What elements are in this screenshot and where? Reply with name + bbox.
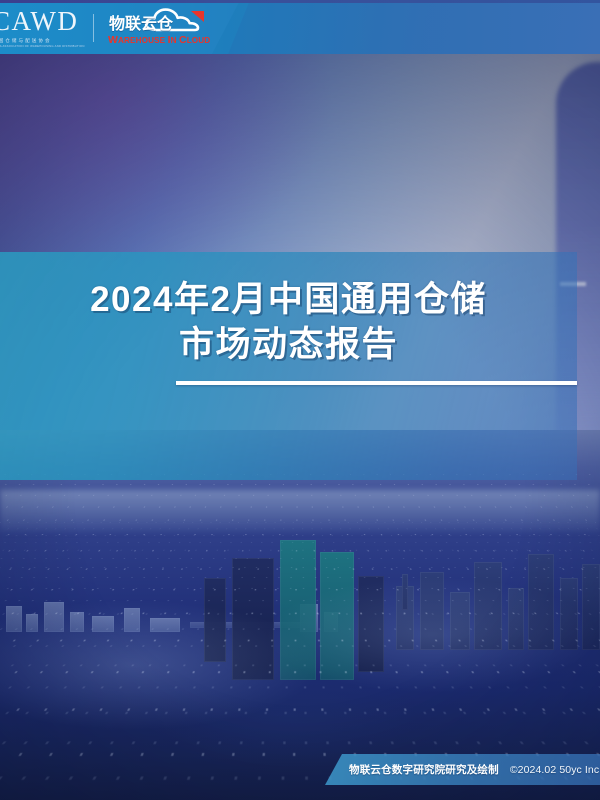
wic-en-n: N — [171, 36, 179, 45]
wic-name-en: WAREHOUSE IN CLOUD — [108, 35, 210, 46]
logo-divider — [93, 14, 94, 42]
warehouse-in-cloud-logo[interactable]: 物联云仓 WAREHOUSE IN CLOUD — [105, 6, 213, 50]
logo-group: CAWD 中国仓储与配送协会 CHINA ASSOCIATION OF WARE… — [0, 6, 213, 50]
title-block: 2024年2月中国通用仓储 市场动态报告 — [0, 252, 577, 480]
report-cover-page: CAWD 中国仓储与配送协会 CHINA ASSOCIATION OF WARE… — [0, 0, 600, 800]
footer-producer: 物联云仓数字研究院研究及绘制 — [349, 762, 499, 777]
cawd-name-en: CHINA ASSOCIATION OF WAREHOUSING AND DIS… — [0, 44, 78, 48]
header-top-rule — [0, 0, 600, 3]
footer-copyright: ©2024.02 50yc Inc. — [510, 764, 600, 776]
report-title-line-2: 市场动态报告 — [179, 323, 398, 368]
wic-en-c: C — [179, 34, 187, 46]
report-title-line-1: 2024年2月中国通用仓储 — [90, 278, 487, 323]
wic-name-cn: 物联云仓 — [109, 17, 173, 33]
wic-en-arehouse: AREHOUSE — [118, 36, 168, 45]
wic-en-loud: LOUD — [187, 36, 211, 45]
header-band-right — [212, 0, 600, 54]
footer-credit-bar: 物联云仓数字研究院研究及绘制 ©2024.02 50yc Inc. — [325, 754, 600, 785]
wic-en-w: W — [108, 34, 118, 46]
cawd-name-cn: 中国仓储与配送协会 — [0, 37, 80, 43]
title-underline — [176, 381, 577, 385]
cawd-wordmark: CAWD — [0, 8, 88, 35]
cawd-logo[interactable]: CAWD 中国仓储与配送协会 CHINA ASSOCIATION OF WARE… — [0, 6, 88, 50]
